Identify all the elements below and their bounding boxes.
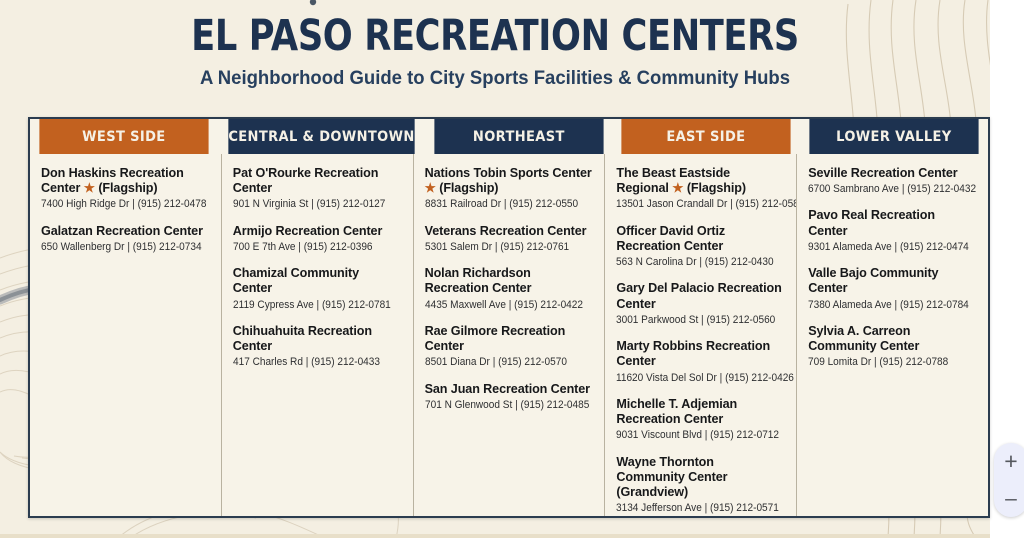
page-title: EL PASO RECREATION CENTERS: [89, 14, 901, 59]
center-name-text: San Juan Recreation Center: [425, 382, 590, 396]
center-name: San Juan Recreation Center: [425, 382, 594, 397]
column-body-east-side: The Beast Eastside Regional ★ (Flagship)…: [605, 154, 797, 516]
center-name-text: Valle Bajo Community Center: [808, 266, 938, 295]
center-address-phone: 13501 Jason Crandall Dr | (915) 212-0580: [616, 198, 776, 211]
center-name-text: Armijo Recreation Center: [233, 224, 382, 238]
center-address-phone: 3134 Jefferson Ave | (915) 212-0571: [616, 502, 776, 515]
center-address-phone: 9031 Viscount Blvd | (915) 212-0712: [616, 429, 776, 442]
center-address-phone: 3001 Parkwood St | (915) 212-0560: [616, 314, 776, 327]
column-body-west-side: Don Haskins Recreation Center ★ (Flagshi…: [30, 154, 222, 516]
center-name-text: Nolan Richardson Recreation Center: [425, 266, 532, 295]
recreation-center-entry[interactable]: Rae Gilmore Recreation Center8501 Diana …: [425, 324, 594, 370]
center-name-text: Wayne Thornton Community Center (Grandvi…: [616, 455, 727, 499]
center-address-phone: 7380 Alameda Ave | (915) 212-0784: [808, 299, 968, 312]
center-name: Sylvia A. Carreon Community Center: [808, 324, 977, 354]
center-name: Armijo Recreation Center: [233, 224, 402, 239]
page-subtitle: A Neighborhood Guide to City Sports Faci…: [25, 67, 966, 90]
recreation-center-entry[interactable]: Pavo Real Recreation Center9301 Alameda …: [808, 208, 977, 254]
center-address-phone: 5301 Salem Dr | (915) 212-0761: [425, 241, 585, 254]
center-name-text: Gary Del Palacio Recreation Center: [616, 281, 781, 310]
recreation-center-entry[interactable]: Michelle T. Adjemian Recreation Center90…: [616, 397, 785, 443]
center-name: Michelle T. Adjemian Recreation Center: [616, 397, 785, 427]
center-address-phone: 8831 Railroad Dr | (915) 212-0550: [425, 198, 585, 211]
poster-header: EL PASO RECREATION CENTERS A Neighborhoo…: [0, 14, 990, 90]
center-name: Nolan Richardson Recreation Center: [425, 266, 594, 296]
center-name: Seville Recreation Center: [808, 166, 977, 181]
recreation-centers-table: WEST SIDECENTRAL & DOWNTOWNNORTHEASTEAST…: [28, 117, 990, 518]
column-body-northeast: Nations Tobin Sports Center ★ (Flagship)…: [414, 154, 606, 516]
bottom-strip: [0, 534, 990, 538]
center-name: Wayne Thornton Community Center (Grandvi…: [616, 455, 785, 501]
table-header-row: WEST SIDECENTRAL & DOWNTOWNNORTHEASTEAST…: [30, 119, 988, 154]
table-body-row: Don Haskins Recreation Center ★ (Flagshi…: [30, 154, 988, 516]
center-name-text: Seville Recreation Center: [808, 166, 957, 180]
flagship-star-icon: ★: [84, 181, 95, 195]
center-name: Pat O'Rourke Recreation Center: [233, 166, 402, 196]
center-name: Marty Robbins Recreation Center: [616, 339, 785, 369]
center-name-text: Pat O'Rourke Recreation Center: [233, 166, 379, 195]
center-address-phone: 8501 Diana Dr | (915) 212-0570: [425, 356, 585, 369]
center-name-text: Michelle T. Adjemian Recreation Center: [616, 397, 737, 426]
center-address-phone: 4435 Maxwell Ave | (915) 212-0422: [425, 299, 585, 312]
center-name-text: Pavo Real Recreation Center: [808, 208, 935, 237]
flagship-label: (Flagship): [439, 181, 498, 195]
center-name-text: Marty Robbins Recreation Center: [616, 339, 770, 368]
center-address-phone: 709 Lomita Dr | (915) 212-0788: [808, 356, 968, 369]
center-address-phone: 6700 Sambrano Ave | (915) 212-0432: [808, 183, 968, 196]
center-name-text: Nations Tobin Sports Center: [425, 166, 592, 180]
center-name-text: Galatzan Recreation Center: [41, 224, 203, 238]
column-header-east-side[interactable]: EAST SIDE: [622, 119, 791, 154]
center-address-phone: 417 Charles Rd | (915) 212-0433: [233, 356, 393, 369]
map-zoom-control[interactable]: + –: [994, 443, 1024, 517]
center-name: Chamizal Community Center: [233, 266, 402, 296]
recreation-center-entry[interactable]: Officer David Ortiz Recreation Center563…: [616, 224, 785, 270]
center-name: Valle Bajo Community Center: [808, 266, 977, 296]
center-name: Veterans Recreation Center: [425, 224, 594, 239]
recreation-center-entry[interactable]: Veterans Recreation Center5301 Salem Dr …: [425, 224, 594, 254]
column-body-lower-valley: Seville Recreation Center6700 Sambrano A…: [797, 154, 988, 516]
recreation-center-entry[interactable]: Chihuahuita Recreation Center417 Charles…: [233, 324, 402, 370]
recreation-center-entry[interactable]: Gary Del Palacio Recreation Center3001 P…: [616, 281, 785, 327]
recreation-center-entry[interactable]: Nations Tobin Sports Center ★ (Flagship)…: [425, 166, 594, 212]
recreation-center-entry[interactable]: Galatzan Recreation Center650 Wallenberg…: [41, 224, 210, 254]
center-name-text: Chihuahuita Recreation Center: [233, 324, 372, 353]
recreation-center-entry[interactable]: Wayne Thornton Community Center (Grandvi…: [616, 455, 785, 516]
center-name: The Beast Eastside Regional ★ (Flagship): [616, 166, 785, 196]
column-header-lower-valley[interactable]: LOWER VALLEY: [810, 119, 979, 154]
center-address-phone: 701 N Glenwood St | (915) 212-0485: [425, 399, 585, 412]
flagship-star-icon: ★: [425, 181, 436, 195]
flagship-label: (Flagship): [687, 181, 746, 195]
flagship-label: (Flagship): [98, 181, 157, 195]
flagship-star-icon: ★: [672, 181, 683, 195]
column-header-west-side[interactable]: WEST SIDE: [39, 119, 208, 154]
center-name-text: Officer David Ortiz Recreation Center: [616, 224, 725, 253]
center-address-phone: 700 E 7th Ave | (915) 212-0396: [233, 241, 393, 254]
zoom-out-icon[interactable]: –: [994, 480, 1024, 517]
recreation-center-entry[interactable]: Armijo Recreation Center700 E 7th Ave | …: [233, 224, 402, 254]
center-name: Rae Gilmore Recreation Center: [425, 324, 594, 354]
recreation-center-entry[interactable]: Nolan Richardson Recreation Center4435 M…: [425, 266, 594, 312]
recreation-center-entry[interactable]: Don Haskins Recreation Center ★ (Flagshi…: [41, 166, 210, 212]
center-address-phone: 563 N Carolina Dr | (915) 212-0430: [616, 256, 776, 269]
center-name: Galatzan Recreation Center: [41, 224, 210, 239]
center-address-phone: 11620 Vista Del Sol Dr | (915) 212-0426: [616, 372, 776, 385]
recreation-center-entry[interactable]: Marty Robbins Recreation Center11620 Vis…: [616, 339, 785, 385]
recreation-center-entry[interactable]: Sylvia A. Carreon Community Center709 Lo…: [808, 324, 977, 370]
center-name: Don Haskins Recreation Center ★ (Flagshi…: [41, 166, 210, 196]
center-name-text: Chamizal Community Center: [233, 266, 359, 295]
center-address-phone: 9301 Alameda Ave | (915) 212-0474: [808, 241, 968, 254]
recreation-center-entry[interactable]: Seville Recreation Center6700 Sambrano A…: [808, 166, 977, 196]
column-body-central-downtown: Pat O'Rourke Recreation Center901 N Virg…: [222, 154, 414, 516]
center-name: Gary Del Palacio Recreation Center: [616, 281, 785, 311]
center-name: Pavo Real Recreation Center: [808, 208, 977, 238]
center-address-phone: 650 Wallenberg Dr | (915) 212-0734: [41, 241, 201, 254]
center-address-phone: 7400 High Ridge Dr | (915) 212-0478: [41, 198, 201, 211]
zoom-in-icon[interactable]: +: [994, 443, 1024, 480]
recreation-center-entry[interactable]: San Juan Recreation Center701 N Glenwood…: [425, 382, 594, 412]
center-name: Officer David Ortiz Recreation Center: [616, 224, 785, 254]
center-name-text: Rae Gilmore Recreation Center: [425, 324, 566, 353]
recreation-center-entry[interactable]: Valle Bajo Community Center7380 Alameda …: [808, 266, 977, 312]
center-name-text: Sylvia A. Carreon Community Center: [808, 324, 919, 353]
recreation-center-entry[interactable]: The Beast Eastside Regional ★ (Flagship)…: [616, 166, 785, 212]
recreation-center-entry[interactable]: Chamizal Community Center2119 Cypress Av…: [233, 266, 402, 312]
center-name: Chihuahuita Recreation Center: [233, 324, 402, 354]
center-address-phone: 901 N Virginia St | (915) 212-0127: [233, 198, 393, 211]
center-name-text: Veterans Recreation Center: [425, 224, 587, 238]
center-address-phone: 2119 Cypress Ave | (915) 212-0781: [233, 299, 393, 312]
column-header-northeast[interactable]: NORTHEAST: [434, 119, 603, 154]
center-name: Nations Tobin Sports Center ★ (Flagship): [425, 166, 594, 196]
column-header-central-downtown[interactable]: CENTRAL & DOWNTOWN: [228, 119, 414, 154]
recreation-center-entry[interactable]: Pat O'Rourke Recreation Center901 N Virg…: [233, 166, 402, 212]
